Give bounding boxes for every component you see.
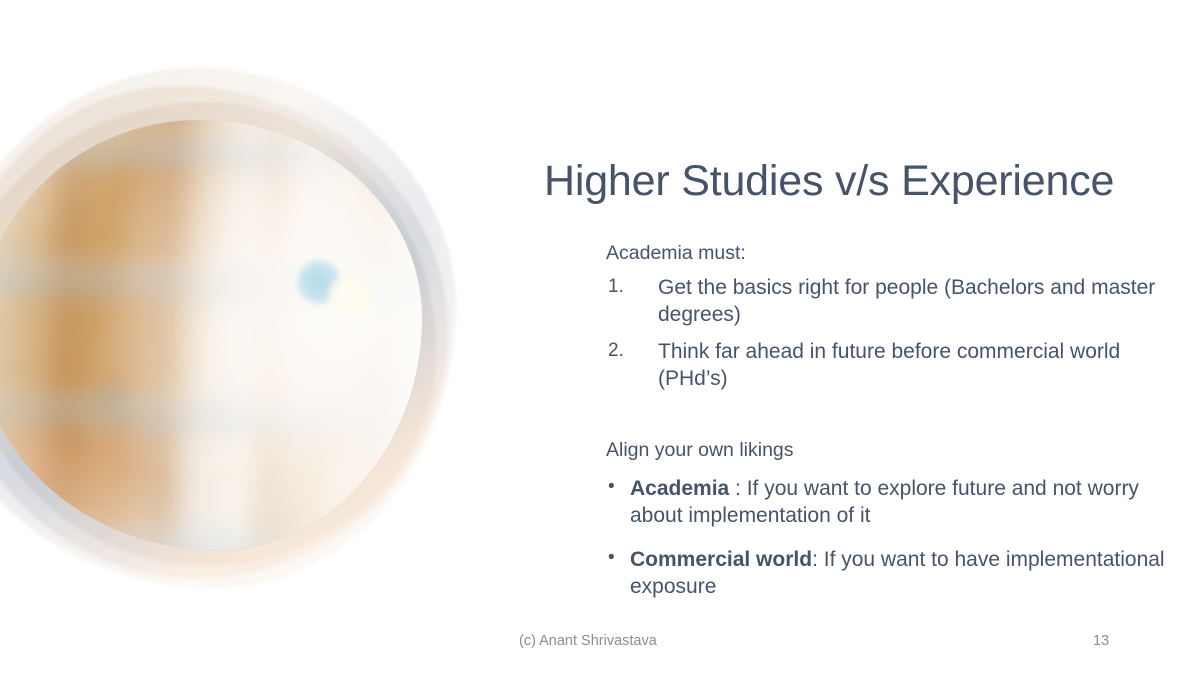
academia-numbered-list: 1. Get the basics right for people (Bach… (606, 275, 1194, 393)
library-photo (0, 120, 422, 550)
presentation-slide: Higher Studies v/s Experience Academia m… (0, 0, 1200, 675)
academia-lead-text: Academia must: (606, 240, 1194, 266)
page-number: 13 (1093, 633, 1109, 649)
list-item: 2. Think far ahead in future before comm… (606, 339, 1194, 393)
footer-copyright: (c) Anant Shrivastava (519, 633, 657, 649)
list-item: • Academia : If you want to explore futu… (606, 475, 1194, 530)
list-item: 1. Get the basics right for people (Bach… (606, 275, 1194, 329)
bullet-icon: • (608, 546, 615, 571)
bullet-icon: • (608, 475, 615, 500)
list-item: • Commercial world: If you want to have … (606, 546, 1194, 601)
list-item-text: Get the basics right for people (Bachelo… (658, 276, 1155, 326)
decorative-blob-image (0, 72, 462, 592)
list-marker: 2. (608, 339, 624, 363)
list-item-term: Academia (630, 477, 729, 500)
list-item-term: Commercial world (630, 548, 812, 571)
list-item-text: Think far ahead in future before commerc… (658, 340, 1120, 390)
likings-bullet-list: • Academia : If you want to explore futu… (606, 475, 1194, 600)
photo-edge-fade (0, 120, 422, 550)
page-title: Higher Studies v/s Experience (544, 157, 1190, 206)
likings-lead-text: Align your own likings (606, 437, 1194, 463)
list-marker: 1. (608, 275, 624, 299)
slide-body: Academia must: 1. Get the basics right f… (606, 240, 1194, 616)
section-spacer (606, 403, 1194, 437)
